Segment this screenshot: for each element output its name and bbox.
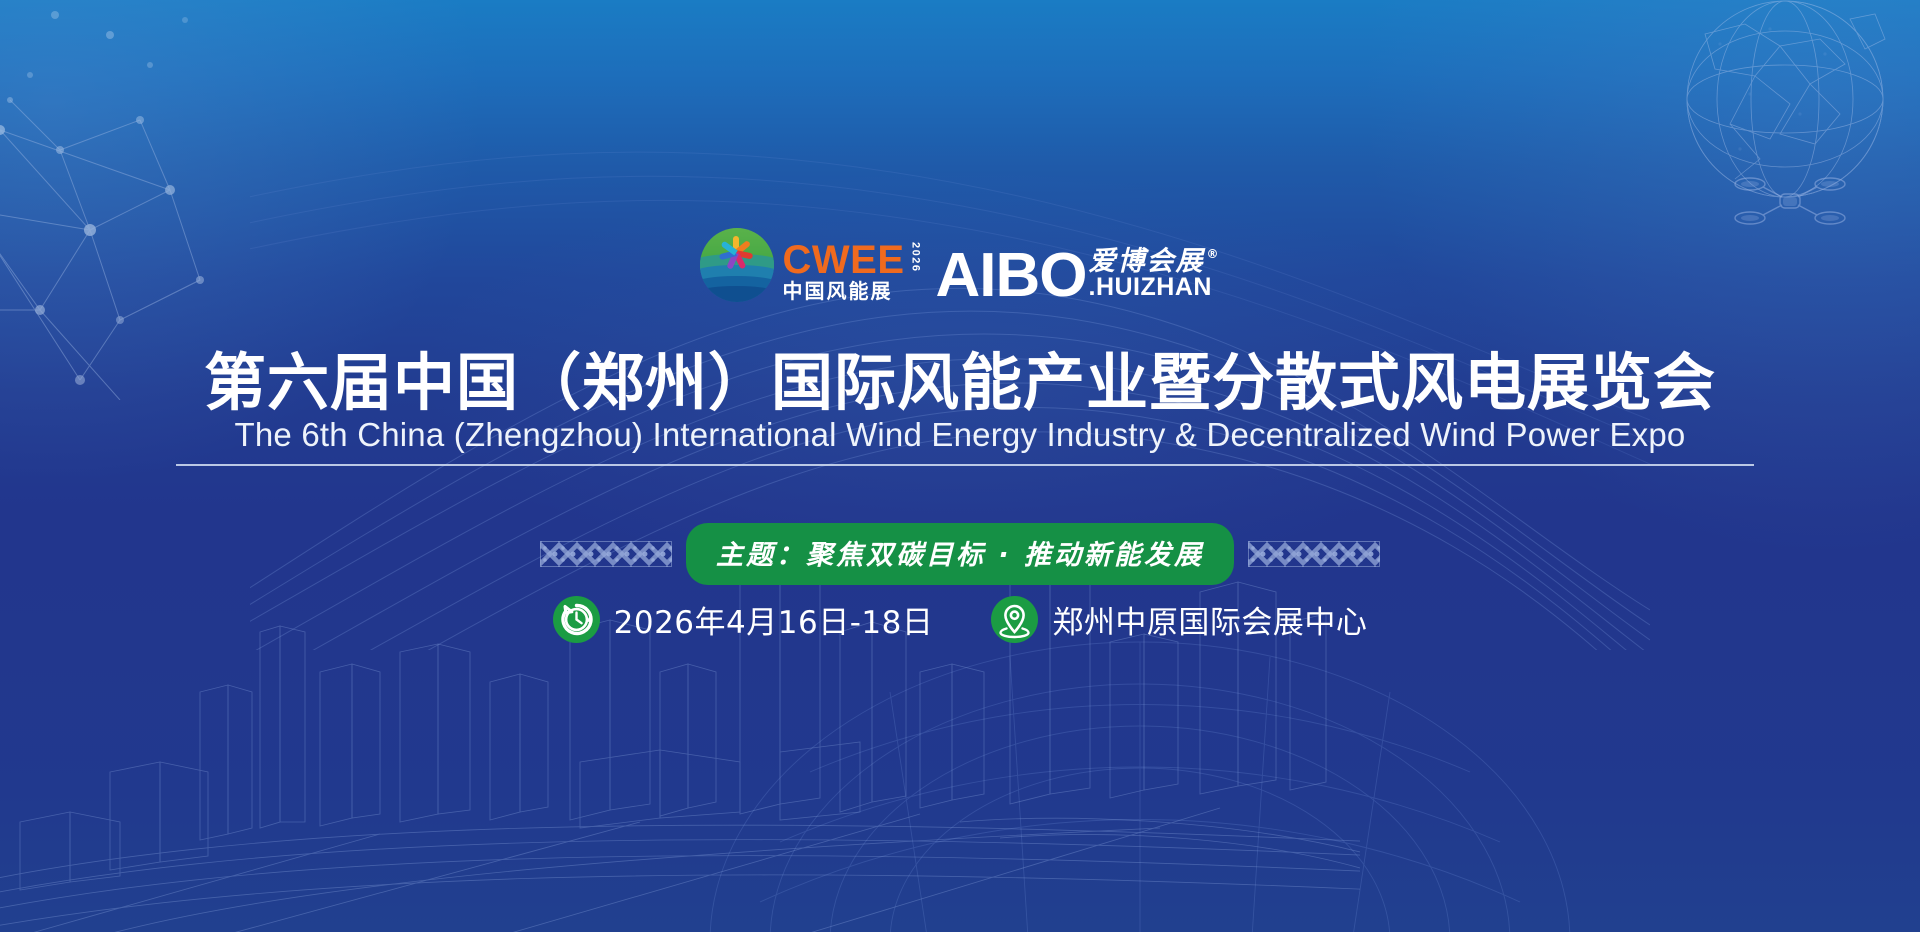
registered-trademark-icon: ® <box>1207 248 1221 260</box>
ornament-left-icon <box>540 541 672 567</box>
pinwheel-icon <box>719 236 753 270</box>
aibo-logo: AIBO 爱博会展® .HUIZHAN <box>936 248 1221 304</box>
aibo-chinese-name: 爱博会展® <box>1089 248 1221 275</box>
event-venue-label: 郑州中原国际会展中心 <box>1052 597 1367 642</box>
aibo-pinyin: .HUIZHAN <box>1089 273 1212 301</box>
page-title-chinese: 第六届中国（郑州）国际风能产业暨分散式风电展览会 <box>0 332 1920 422</box>
ornament-right-icon <box>1248 541 1380 567</box>
page-title-english: The 6th China (Zhengzhou) International … <box>0 416 1920 454</box>
cwee-wordmark: CWEE 2026 中国风能展 <box>783 241 922 302</box>
event-date: 2026年4月16日-18日 <box>553 596 934 643</box>
expo-banner: CWEE 2026 中国风能展 AIBO 爱博会展® .HUIZHAN 第六届中… <box>0 0 1920 932</box>
drone-decoration <box>1730 168 1850 232</box>
aibo-wordmark: AIBO <box>936 249 1087 304</box>
clock-icon <box>553 596 600 643</box>
location-pin-icon <box>991 596 1038 643</box>
event-date-label: 2026年4月16日-18日 <box>614 597 934 642</box>
theme-banner: 主题：聚焦双碳目标 · 推动新能发展 <box>0 523 1920 585</box>
cwee-acronym: CWEE <box>783 241 905 279</box>
cwee-globe-pinwheel-mark <box>700 228 774 302</box>
theme-text: 主题：聚焦双碳目标 · 推动新能发展 <box>686 523 1234 585</box>
cwee-chinese-name: 中国风能展 <box>783 281 922 302</box>
logo-lockup: CWEE 2026 中国风能展 AIBO 爱博会展® .HUIZHAN <box>0 228 1920 304</box>
event-details: 2026年4月16日-18日 郑州中原国际会展中心 <box>0 596 1920 643</box>
background-decorations <box>0 0 1920 932</box>
event-venue: 郑州中原国际会展中心 <box>991 596 1367 643</box>
wireframe-globe-decoration <box>1660 0 1910 234</box>
title-divider <box>176 464 1754 466</box>
cwee-year: 2026 <box>910 242 922 272</box>
